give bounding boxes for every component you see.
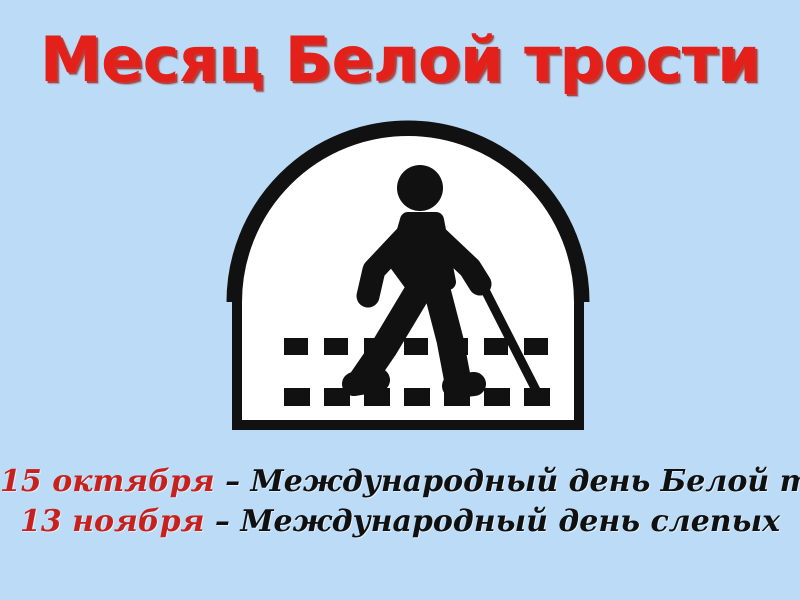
caption-line-1: 15 октября – Международный день Белой тр…: [0, 462, 800, 502]
caption-text-2: Международный день слепых: [240, 504, 780, 539]
caption-text-1: Международный день Белой трости: [251, 464, 800, 499]
caption-block: 15 октября – Международный день Белой тр…: [0, 462, 800, 542]
caption-date-2: 13 ноября: [20, 504, 204, 539]
caption-line-2: 13 ноября – Международный день слепых: [0, 502, 800, 542]
poster-canvas: Месяц Белой трости: [0, 0, 800, 600]
caption-dash-1: –: [215, 464, 251, 499]
page-title: Месяц Белой трости: [0, 24, 800, 96]
caption-date-1: 15 октября: [0, 464, 215, 499]
blind-pedestrian-sign-icon: [222, 112, 594, 444]
caption-dash-2: –: [204, 504, 240, 539]
